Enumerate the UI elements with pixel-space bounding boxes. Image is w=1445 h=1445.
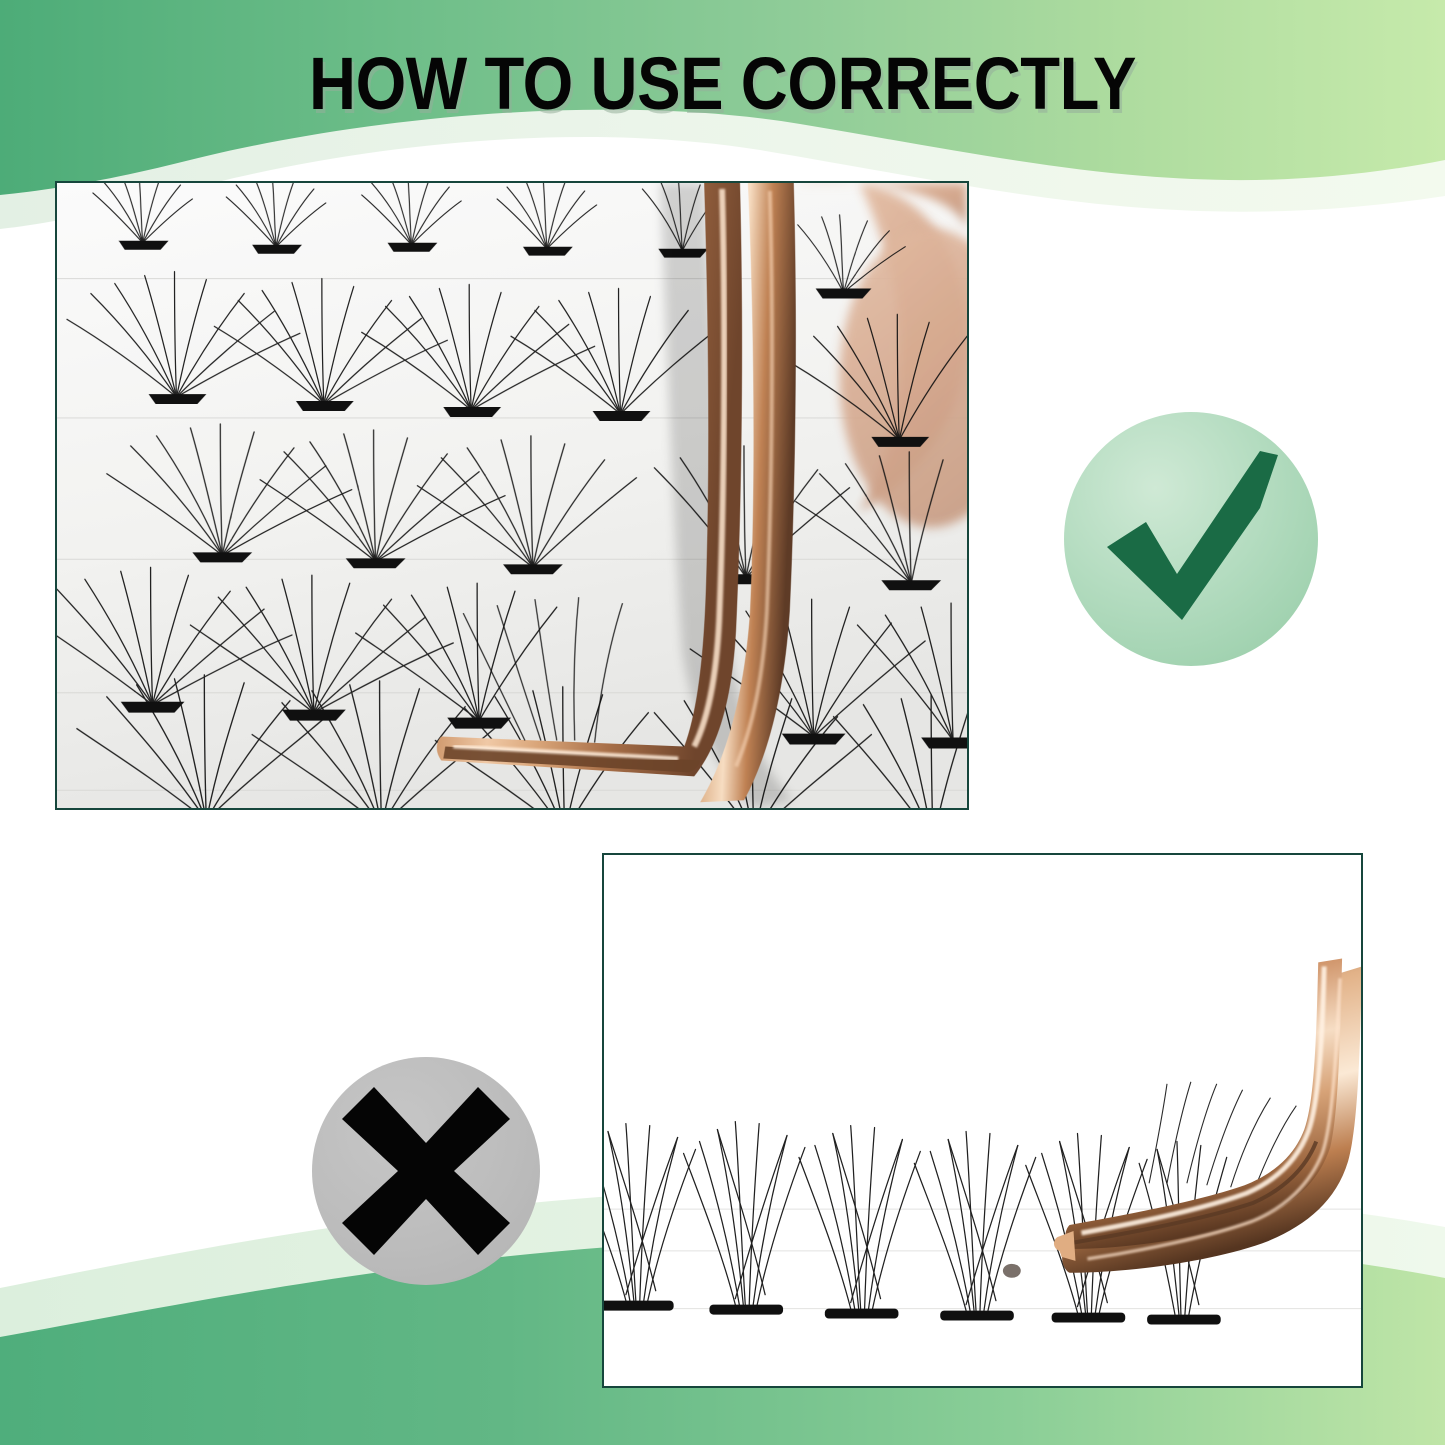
incorrect-status-badge (312, 1057, 540, 1285)
photo-incorrect-method (602, 853, 1363, 1388)
correct-status-badge (1064, 412, 1318, 666)
page-title: HOW TO USE CORRECTLY (87, 47, 1359, 121)
photo-correct-method (55, 181, 969, 810)
infographic-canvas: HOW TO USE CORRECTLY (0, 0, 1445, 1445)
cross-icon (312, 1057, 540, 1285)
check-icon (1064, 412, 1318, 666)
